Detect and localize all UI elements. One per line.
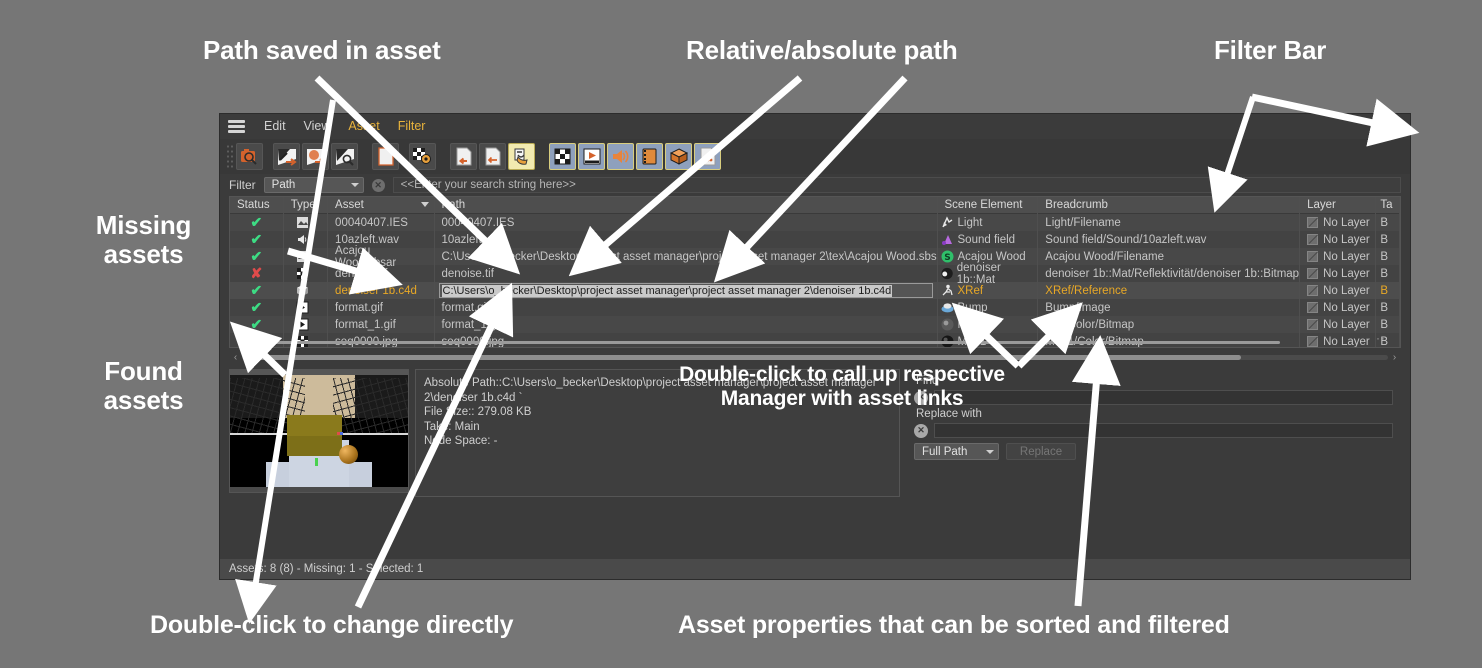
cell-take: B <box>1376 299 1399 316</box>
c4d-file-icon <box>284 282 327 299</box>
status-ok-icon: ✔ <box>230 231 283 248</box>
layer-swatch-icon <box>1307 302 1318 313</box>
image-file-icon <box>284 265 327 282</box>
filmstrip-icon[interactable] <box>636 143 663 170</box>
layer-label: No Layer <box>1323 302 1370 314</box>
status-bar-text: Assets: 8 (8) - Missing: 1 - Selected: 1 <box>229 563 423 575</box>
path-edit-input[interactable]: C:\Users\o_becker\Desktop\project asset … <box>439 283 933 298</box>
checker-gears-icon[interactable] <box>409 143 436 170</box>
cell-asset: 00040407.IES <box>328 214 433 231</box>
column-header-status[interactable]: Status <box>230 197 283 214</box>
cell-take: B <box>1376 282 1399 299</box>
status-bar: Assets: 8 (8) - Missing: 1 - Selected: 1 <box>220 559 1410 579</box>
menu-item-asset[interactable]: Asset <box>339 114 388 139</box>
scene-element-label: Sound field <box>958 234 1016 246</box>
layer-swatch-icon <box>1307 217 1318 228</box>
toolbar-grip[interactable] <box>226 144 233 170</box>
sbsar-file-icon <box>284 248 327 265</box>
chevron-down-icon <box>986 450 994 454</box>
cell-path: denoise.tif <box>435 265 937 282</box>
annotation-asset-properties: Asset properties that can be sorted and … <box>678 611 1230 639</box>
document-undo-icon[interactable] <box>450 143 477 170</box>
column-asset: Asset 00040407.IES 10azleft.wav Acajou W… <box>328 197 434 348</box>
cell-layer: No Layer <box>1300 299 1375 316</box>
layer-swatch-icon <box>1307 268 1318 279</box>
menu-bar: Edit View Asset Filter <box>220 114 1410 139</box>
gif-file-icon <box>284 299 327 316</box>
column-header-scene-element[interactable]: Scene Element <box>938 197 1038 214</box>
annotation-double-click-change: Double-click to change directly <box>150 611 513 639</box>
cell-path: format.gif <box>435 299 937 316</box>
cell-layer: No Layer <box>1300 214 1375 231</box>
column-path: Path 00040407.IES 10azleft.wav C:\Users\… <box>435 197 938 348</box>
info-node-space: Node Space: - <box>424 434 891 449</box>
cell-layer: No Layer <box>1300 282 1375 299</box>
cell-breadcrumb: Light/Filename <box>1038 214 1299 231</box>
column-take: Ta B B B B B B B B <box>1376 197 1400 348</box>
cell-take: B <box>1376 248 1399 265</box>
sound-icon[interactable] <box>607 143 634 170</box>
chevron-down-icon <box>351 183 359 187</box>
substance-icon: S <box>941 250 954 263</box>
sphere-arrow-icon[interactable] <box>302 143 329 170</box>
cell-layer: No Layer <box>1300 248 1375 265</box>
replace-scope-select[interactable]: Full Path <box>914 443 999 460</box>
resize-grip-icon[interactable]: ·· <box>1376 331 1386 345</box>
scroll-track[interactable] <box>242 355 1388 360</box>
save-hand-icon[interactable] <box>508 143 535 170</box>
cell-breadcrumb: Bump/Image <box>1038 299 1299 316</box>
filter-label: Filter <box>229 178 256 192</box>
gif-file-icon <box>284 316 327 333</box>
bump-icon <box>941 301 954 314</box>
table-inner-scrollbar[interactable] <box>260 341 1280 344</box>
replace-scope-value: Full Path <box>922 446 967 458</box>
layer-label: No Layer <box>1323 268 1370 280</box>
cell-path: 00040407.IES <box>435 214 937 231</box>
cell-scene-element: Mat <box>938 316 1038 333</box>
status-ok-icon: ✔ <box>230 248 283 265</box>
layer-label: No Layer <box>1323 319 1370 331</box>
status-ok-icon: ✔ <box>230 316 283 333</box>
ies-file-icon <box>284 214 327 231</box>
annotation-filter-bar: Filter Bar <box>1214 36 1326 65</box>
cell-layer: No Layer <box>1300 265 1375 282</box>
layer-label: No Layer <box>1323 285 1370 297</box>
clear-icon[interactable]: ✕ <box>372 179 385 192</box>
column-layer: Layer No Layer No Layer No Layer No Laye… <box>1300 197 1376 348</box>
pen-arrow-icon[interactable] <box>273 143 300 170</box>
cell-asset: format_1.gif <box>328 316 433 333</box>
cell-scene-element: denoiser 1b::Mat <box>938 265 1038 282</box>
cell-path: C:\Users\o_becker\Desktop\project asset … <box>435 248 937 265</box>
search-icon[interactable] <box>1389 119 1403 133</box>
video-player-icon[interactable] <box>578 143 605 170</box>
cell-layer: No Layer <box>1300 316 1375 333</box>
layer-swatch-icon <box>1307 234 1318 245</box>
filter-bar: Filter Path ✕ <<Enter your search string… <box>220 174 1410 196</box>
layer-label: No Layer <box>1323 251 1370 263</box>
menu-item-edit[interactable]: Edit <box>255 114 295 139</box>
cell-scene-element: Light <box>938 214 1038 231</box>
cell-path: format_1.gif <box>435 316 937 333</box>
cell-take: B <box>1376 265 1399 282</box>
column-header-take[interactable]: Ta <box>1376 197 1399 214</box>
search-placeholder: <<Enter your search string here>> <box>401 179 576 191</box>
cell-take: B <box>1376 231 1399 248</box>
cell-layer: No Layer <box>1300 333 1375 348</box>
annotation-relative-absolute-path: Relative/absolute path <box>686 36 958 65</box>
scene-element-label: denoiser 1b::Mat <box>957 262 1038 286</box>
cell-path: 10azleft.wav <box>435 231 937 248</box>
column-type: Type <box>284 197 328 348</box>
layer-swatch-icon <box>1307 251 1318 262</box>
box-object-icon[interactable] <box>665 143 692 170</box>
cell-asset: Acajou Wood.sbsar <box>328 248 433 265</box>
path-edit-value: C:\Users\o_becker\Desktop\project asset … <box>442 285 893 297</box>
scene-element-label: Mat <box>958 319 977 331</box>
column-header-type[interactable]: Type <box>284 197 327 214</box>
status-missing-icon: ✘ <box>230 265 283 282</box>
xref-icon <box>941 284 954 297</box>
asset-manager-window: Edit View Asset Filter <box>219 113 1411 580</box>
clear-icon[interactable]: ✕ <box>914 424 928 438</box>
column-header-asset[interactable]: Asset <box>328 197 433 214</box>
mat-icon <box>941 318 954 331</box>
cell-breadcrumb: Acajou Wood/Filename <box>1038 248 1299 265</box>
cell-take: B <box>1376 214 1399 231</box>
replace-button[interactable]: Replace <box>1006 443 1076 460</box>
sort-arrow-icon <box>421 202 429 207</box>
annotation-found-assets: Found assets <box>56 357 231 415</box>
replace-row: ✕ <box>914 423 1393 438</box>
cell-asset: denoiser 1b.c4d <box>328 282 433 299</box>
cell-layer: No Layer <box>1300 231 1375 248</box>
layer-label: No Layer <box>1323 336 1370 348</box>
sound-file-icon <box>284 231 327 248</box>
menu-icon[interactable] <box>228 120 245 133</box>
scene-element-label: XRef <box>958 285 984 297</box>
new-document-icon[interactable] <box>372 143 399 170</box>
layer-swatch-icon <box>1307 336 1318 347</box>
asset-preview-thumbnail <box>229 369 409 493</box>
filter-type-value: Path <box>272 179 296 191</box>
replace-controls: Full Path Replace <box>914 443 1393 460</box>
annotation-double-click-manager: Double-click to call up respective Manag… <box>652 363 1032 410</box>
camera-search-icon[interactable] <box>236 143 263 170</box>
scroll-right-icon[interactable]: › <box>1388 351 1401 364</box>
column-header-asset-label: Asset <box>335 199 364 211</box>
replace-input[interactable] <box>934 423 1393 438</box>
light-icon <box>941 216 954 229</box>
cell-breadcrumb: Mat/Color/Bitmap <box>1038 316 1299 333</box>
svg-text:S: S <box>944 253 950 263</box>
cell-asset: format.gif <box>328 299 433 316</box>
asset-table[interactable]: Status ✔ ✔ ✔ ✘ ✔ ✔ ✔ ✔ Type <box>229 196 1401 348</box>
menu-item-view[interactable]: View <box>295 114 340 139</box>
menu-item-filter[interactable]: Filter <box>389 114 435 139</box>
pen-search-icon[interactable] <box>331 143 358 170</box>
column-scene-element: Scene Element Light Sound field S Acajou… <box>938 197 1039 348</box>
status-ok-icon: ✔ <box>230 299 283 316</box>
cell-breadcrumb: denoiser 1b::Mat/Reflektivität/denoiser … <box>1038 265 1299 282</box>
status-ok-icon: ✔ <box>230 214 283 231</box>
cell-scene-element: Sound field <box>938 231 1038 248</box>
scene-element-label: Light <box>958 217 983 229</box>
column-status: Status ✔ ✔ ✔ ✘ ✔ ✔ ✔ ✔ <box>230 197 284 348</box>
layer-label: No Layer <box>1323 234 1370 246</box>
column-header-path[interactable]: Path <box>435 197 937 214</box>
column-header-breadcrumb[interactable]: Breadcrumb <box>1038 197 1299 214</box>
info-take: Take: Main <box>424 420 891 435</box>
scroll-thumb[interactable] <box>244 355 1241 360</box>
toolbar <box>220 139 1410 174</box>
cell-scene-element: Bump <box>938 299 1038 316</box>
annotated-screenshot: Edit View Asset Filter <box>0 0 1482 668</box>
filter-type-select[interactable]: Path <box>264 177 364 193</box>
column-header-layer[interactable]: Layer <box>1300 197 1375 214</box>
layer-label: No Layer <box>1323 217 1370 229</box>
annotation-missing-assets: Missing assets <box>56 211 231 269</box>
scene-element-label: Bump <box>958 302 988 314</box>
sound-field-icon <box>941 233 954 246</box>
search-input[interactable]: <<Enter your search string here>> <box>393 177 1401 193</box>
cell-breadcrumb: XRef/Reference <box>1038 282 1299 299</box>
material-icon <box>941 267 953 280</box>
layer-swatch-icon <box>1307 285 1318 296</box>
column-breadcrumb: Breadcrumb Light/Filename Sound field/So… <box>1038 197 1300 348</box>
document-list-icon[interactable] <box>694 143 721 170</box>
layer-swatch-icon <box>1307 319 1318 330</box>
document-relative-icon[interactable] <box>479 143 506 170</box>
annotation-path-saved-in-asset: Path saved in asset <box>203 36 441 65</box>
checker-texture-icon[interactable] <box>549 143 576 170</box>
status-ok-icon: ✔ <box>230 282 283 299</box>
cell-breadcrumb: Sound field/Sound/10azleft.wav <box>1038 231 1299 248</box>
